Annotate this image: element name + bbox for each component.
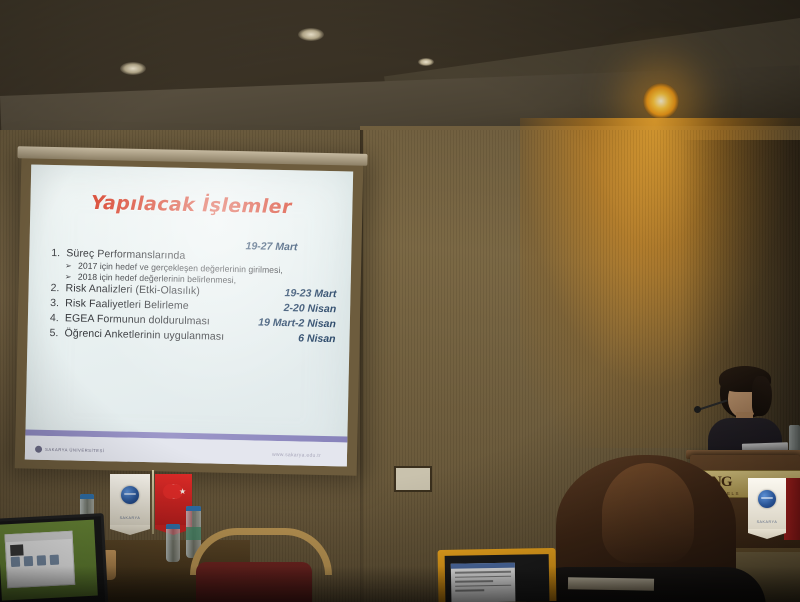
wall-frame	[394, 466, 432, 492]
university-mark-icon	[35, 446, 42, 453]
slide-footer-url: www.sakarya.edu.tr	[272, 452, 321, 459]
chair	[190, 528, 318, 602]
file-icon	[11, 557, 21, 567]
laptop-left	[0, 513, 108, 602]
list-item-date: 19-27 Mart	[237, 240, 297, 253]
bottle-cap	[186, 506, 201, 511]
text-line	[455, 580, 493, 582]
window-titlebar	[451, 563, 515, 569]
text-line	[455, 584, 511, 586]
slide-list: 1. Süreç Performanslarında 19-27 Mart ➢ …	[49, 247, 337, 348]
list-item-text: Risk Faaliyetleri Belirleme	[65, 297, 189, 312]
list-item-number: 4.	[50, 312, 65, 324]
document-window	[451, 563, 516, 602]
red-flag	[784, 478, 800, 540]
list-item-number: 2.	[50, 282, 65, 294]
list-item-date: 19-23 Mart	[276, 287, 336, 300]
star-icon: ★	[179, 488, 186, 496]
flag-pole	[152, 470, 154, 534]
pennant-banner: SAKARYA	[110, 474, 150, 526]
globe-logo-icon	[758, 490, 776, 508]
icon-row	[11, 555, 59, 567]
file-icon	[50, 555, 60, 565]
crescent-icon	[163, 484, 178, 499]
text-line	[455, 571, 511, 573]
bottle-cap	[80, 494, 94, 499]
list-item-number: 1.	[51, 247, 66, 259]
window-titlebar	[6, 532, 72, 542]
conference-room-photo: Yapılacak İşlemler 1. Süreç Performansla…	[0, 0, 800, 602]
list-item-text: Risk Analizleri (Etki-Olasılık)	[65, 282, 200, 297]
downlight-icon	[120, 62, 146, 75]
pennant-banner: SAKARYA	[748, 478, 786, 530]
laptop-screen	[0, 520, 98, 601]
globe-logo-icon	[121, 486, 139, 504]
downlight-icon	[298, 28, 324, 41]
list-item-number: 3.	[50, 297, 65, 309]
chevron-bullet-icon: ➢	[65, 261, 78, 270]
slide-footer-logo: SAKARYA ÜNİVERSİTESİ	[35, 446, 105, 455]
file-icon	[37, 555, 47, 565]
speaker-hair-side	[752, 376, 772, 416]
spotlight-icon	[643, 83, 679, 119]
bottle-cap	[166, 524, 180, 529]
papers	[568, 577, 654, 590]
text-line	[455, 575, 511, 577]
list-item-number: 5.	[49, 327, 64, 339]
list-item-date: 2-20 Nisan	[276, 302, 337, 315]
thumbnail-icon	[10, 544, 24, 556]
chair-seat	[196, 562, 312, 602]
list-item-text: EGEA Formunun doldurulması	[65, 312, 210, 327]
list-item: 5. Öğrenci Anketlerinin uygulanması 6 Ni…	[49, 327, 335, 345]
list-item-date: 6 Nisan	[290, 332, 336, 345]
laptop-center	[438, 548, 557, 602]
list-item-text: Öğrenci Anketlerinin uygulanması	[64, 327, 224, 342]
projection-screen: Yapılacak İşlemler 1. Süreç Performansla…	[15, 156, 364, 475]
desktop-window	[4, 531, 75, 588]
pennant-label: SAKARYA	[110, 516, 150, 520]
list-item-date: 19 Mart-2 Nisan	[250, 316, 336, 330]
text-line	[455, 589, 484, 591]
chevron-bullet-icon: ➢	[65, 272, 78, 281]
pennant-label: SAKARYA	[748, 520, 786, 524]
microphone-head-icon	[694, 406, 701, 413]
presentation-slide: Yapılacak İşlemler 1. Süreç Performansla…	[25, 165, 353, 467]
file-icon	[24, 556, 34, 566]
slide-title: Yapılacak İşlemler	[30, 191, 352, 220]
attendee-hair-highlight	[602, 463, 694, 563]
laptop-screen	[445, 554, 550, 602]
downlight-icon	[418, 58, 434, 66]
water-bottle	[166, 524, 180, 562]
slide-footer-org: SAKARYA ÜNİVERSİTESİ	[45, 447, 105, 453]
